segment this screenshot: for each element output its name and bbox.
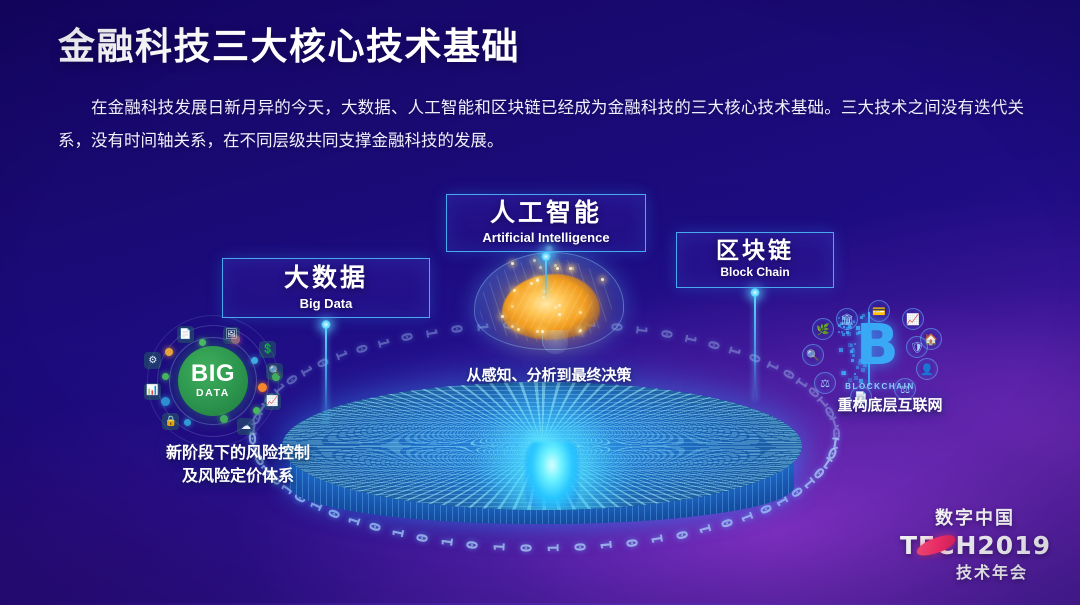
blockchain-pixel (858, 361, 862, 365)
card-big-data-en: Big Data (223, 296, 429, 311)
big-data-currency-icon: 💲 (259, 341, 276, 358)
blockchain-pixel (856, 332, 859, 335)
event-logo: 数字中国 TECH2019 技术年会 (900, 504, 1050, 583)
card-block-chain-en: Block Chain (677, 265, 833, 279)
card-ai-en: Artificial Intelligence (447, 230, 645, 245)
connector-dot-bigdata (322, 320, 331, 329)
brain-spark (511, 305, 514, 308)
brain-spark (511, 262, 514, 265)
big-data-chart-icon: 📈 (264, 393, 281, 410)
blockchain-shield-icon: 🛡 (906, 336, 928, 358)
blockchain-user-icon: 👤 (916, 358, 938, 380)
slide-root: 1010101010101010101010101010101010101010… (0, 0, 1080, 605)
brain-spark (556, 267, 559, 270)
card-big-data-cn: 大数据 (223, 265, 429, 293)
big-data-node-blue (184, 419, 191, 426)
caption-big-data-line2: 及风险定价体系 (100, 465, 376, 488)
binary-digit: 1 (421, 327, 440, 339)
card-artificial-intelligence[interactable]: 人工智能 Artificial Intelligence (446, 194, 646, 252)
big-data-gear-icon: ⚙ (144, 352, 161, 369)
big-data-document-icon: 📄 (177, 326, 194, 343)
blockchain-search-icon: 🔍 (802, 344, 824, 366)
blockchain-pixel (848, 343, 852, 347)
binary-digit: 1 (819, 453, 836, 473)
big-data-node-blue (251, 357, 258, 364)
big-data-node-green (220, 415, 228, 423)
card-block-chain-cn: 区块链 (677, 238, 833, 263)
intro-paragraph: 在金融科技发展日新月异的今天，大数据、人工智能和区块链已经成为金融科技的三大核心… (58, 92, 1024, 158)
connector-line-bigdata (325, 324, 327, 424)
binary-digit: 0 (447, 324, 466, 335)
big-data-node-green (253, 407, 260, 414)
caption-big-data-line1: 新阶段下的风险控制 (100, 442, 376, 465)
binary-digit: 0 (704, 338, 724, 351)
brain-spark (541, 330, 544, 333)
caption-blockchain: 重构底层互联网 (790, 394, 990, 415)
logo-line-digital-china: 数字中国 (900, 504, 1050, 530)
big-data-bar-chart-icon: 📊 (144, 383, 161, 400)
binary-digit: 0 (825, 443, 840, 463)
blockchain-pixel (861, 368, 865, 372)
blockchain-pixel (844, 373, 846, 375)
big-data-image-icon: 🖼 (223, 327, 240, 344)
blockchain-leaf-icon: 🌿 (812, 318, 834, 340)
big-data-icon-cluster: BIG DATA 📈☁🔒📊⚙📄🖼💲🔍 (128, 318, 294, 444)
big-data-node-blue (161, 397, 170, 406)
brain-spark (501, 315, 504, 318)
brain-spark (558, 313, 561, 316)
caption-big-data: 新阶段下的风险控制 及风险定价体系 (100, 442, 376, 488)
blockchain-pixel (862, 359, 864, 361)
connector-line-blockchain (754, 292, 756, 400)
blockchain-pixel (854, 373, 856, 375)
blockchain-pixel (841, 331, 843, 333)
disc-core-beam (525, 442, 579, 508)
blockchain-pixel (863, 363, 867, 367)
ai-brain-graphic (468, 248, 630, 356)
logo-line-tech2019: TECH2019 (900, 531, 1051, 560)
blockchain-pixel (862, 326, 866, 330)
blockchain-pixel (852, 354, 855, 357)
blockchain-pixel (852, 348, 854, 350)
binary-digit: 0 (810, 464, 829, 483)
binary-digit: 1 (830, 433, 842, 452)
binary-digit: 1 (632, 325, 651, 336)
binary-digit: 0 (831, 423, 841, 442)
blockchain-chart-icon: 📈 (902, 308, 924, 330)
blockchain-card-icon: 💳 (868, 300, 890, 322)
binary-digit: 1 (374, 336, 394, 349)
brain-spark (601, 278, 604, 281)
logo-line-annual-conference: 技术年会 (900, 559, 1050, 583)
big-data-lock-icon: 🔒 (162, 413, 179, 430)
brain-spark (536, 279, 539, 282)
brain-spark (558, 304, 561, 307)
blockchain-pixel (854, 376, 858, 380)
binary-digit: 1 (827, 412, 841, 432)
brain-stem (542, 330, 568, 354)
blockchain-pixel (846, 331, 849, 334)
big-data-search-icon: 🔍 (266, 363, 283, 380)
brain-spark (530, 282, 533, 285)
card-ai-cn: 人工智能 (447, 200, 645, 228)
card-block-chain[interactable]: 区块链 Block Chain (676, 232, 834, 288)
page-title: 金融科技三大核心技术基础 (58, 16, 520, 70)
blockchain-pixel (838, 331, 840, 333)
blockchain-pixel (859, 379, 863, 383)
caption-ai: 从感知、分析到最终决策 (418, 364, 680, 385)
blockchain-scales-icon: ⚖ (814, 372, 836, 394)
blockchain-pixel (854, 343, 856, 345)
binary-digit: 0 (397, 331, 416, 343)
blockchain-pixel (848, 378, 852, 382)
brain-spark (579, 311, 582, 314)
connector-dot-ai (542, 252, 551, 261)
connector-dot-blockchain (751, 288, 760, 297)
blockchain-pixel (839, 348, 843, 352)
binary-digit: 0 (657, 328, 676, 340)
big-data-cloud-icon: ☁ (237, 418, 254, 435)
big-data-node-green (162, 373, 169, 380)
blockchain-pixel (856, 366, 859, 369)
blockchain-pixel (851, 359, 854, 362)
big-data-node-green (199, 339, 206, 346)
blockchain-bank-icon: 🏛 (836, 308, 858, 330)
card-big-data[interactable]: 大数据 Big Data (222, 258, 430, 318)
blockchain-pixel (862, 314, 865, 317)
binary-digit: 1 (681, 333, 701, 346)
connector-line-ai (545, 256, 547, 296)
